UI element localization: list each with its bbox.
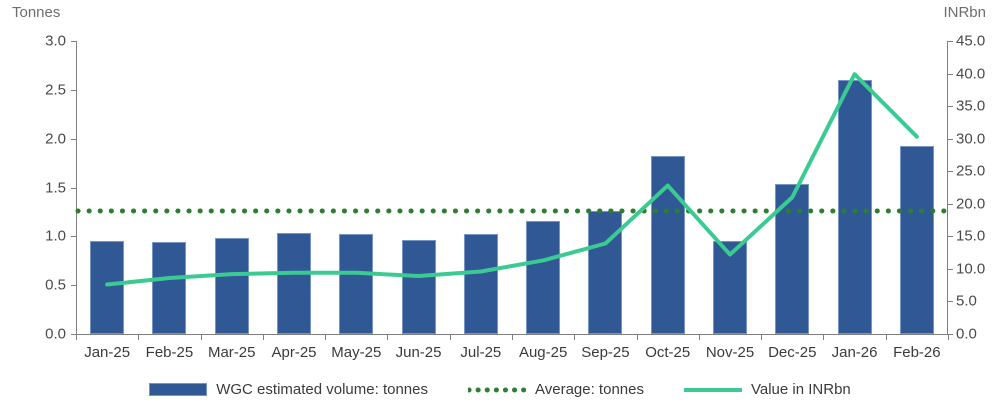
legend-item-wgc-estimated-volume[interactable]: WGC estimated volume: tonnes <box>149 381 428 398</box>
legend-item-value-in-inrbn[interactable]: Value in INRbn <box>684 381 851 398</box>
right-axis-tick-mark <box>948 334 953 335</box>
legend-label-wgc-estimated-volume: WGC estimated volume: tonnes <box>216 381 428 398</box>
left-axis-tick-2.5: 2.5 <box>45 81 66 98</box>
left-axis-tick-mark <box>71 334 76 335</box>
right-axis-tick-15.0: 15.0 <box>956 228 985 245</box>
bar-sep-25[interactable] <box>588 211 622 334</box>
plot-area <box>76 41 948 334</box>
right-axis-tick-mark <box>948 139 953 140</box>
legend-item-average-tonnes[interactable]: Average: tonnes <box>468 381 644 398</box>
right-axis-tick-mark <box>948 74 953 75</box>
left-axis-tick-1.5: 1.5 <box>45 179 66 196</box>
x-axis-tick-mark <box>138 334 139 340</box>
right-axis-tick-5.0: 5.0 <box>956 293 977 310</box>
right-axis-tick-0.0: 0.0 <box>956 326 977 343</box>
left-axis-tick-mark <box>71 139 76 140</box>
chart-container: Tonnes INRbn 0.00.51.01.52.02.53.0 0.05.… <box>0 0 1000 413</box>
x-axis-tick-mark <box>637 334 638 340</box>
bar-swatch-icon <box>149 383 207 396</box>
bar-nov-25[interactable] <box>713 241 747 334</box>
bar-may-25[interactable] <box>339 234 373 334</box>
bar-feb-26[interactable] <box>900 146 934 334</box>
right-axis-tick-25.0: 25.0 <box>956 163 985 180</box>
x-axis-label-jun-25: Jun-25 <box>396 344 442 361</box>
x-axis-tick-mark <box>387 334 388 340</box>
chart-legend: WGC estimated volume: tonnes Average: to… <box>0 381 1000 398</box>
x-axis-tick-mark <box>450 334 451 340</box>
left-axis-tick-mark <box>71 90 76 91</box>
legend-label-average-tonnes: Average: tonnes <box>535 381 644 398</box>
x-axis-tick-mark <box>76 334 77 340</box>
solid-line-swatch-icon <box>684 387 742 393</box>
bar-jun-25[interactable] <box>402 240 436 334</box>
left-axis-tick-mark <box>71 188 76 189</box>
bar-mar-25[interactable] <box>215 238 249 334</box>
bar-dec-25[interactable] <box>775 184 809 334</box>
bar-aug-25[interactable] <box>526 221 560 334</box>
x-axis-label-apr-25: Apr-25 <box>271 344 316 361</box>
left-axis-tick-0.0: 0.0 <box>45 326 66 343</box>
legend-label-value-in-inrbn: Value in INRbn <box>751 381 851 398</box>
bar-feb-25[interactable] <box>152 242 186 334</box>
x-axis-label-may-25: May-25 <box>331 344 381 361</box>
left-axis-tick-mark <box>71 41 76 42</box>
dotted-line-swatch-icon <box>468 387 526 393</box>
x-axis-label-mar-25: Mar-25 <box>208 344 256 361</box>
x-axis-tick-mark <box>699 334 700 340</box>
right-axis-tick-mark <box>948 204 953 205</box>
x-axis-tick-mark <box>574 334 575 340</box>
right-axis-tick-mark <box>948 269 953 270</box>
right-axis-tick-labels: 0.05.010.015.020.025.030.035.040.045.0 <box>956 0 1000 413</box>
x-axis-tick-mark <box>823 334 824 340</box>
x-axis-label-jul-25: Jul-25 <box>460 344 501 361</box>
x-axis-label-nov-25: Nov-25 <box>706 344 754 361</box>
right-axis-tick-45.0: 45.0 <box>956 33 985 50</box>
left-axis-tick-mark <box>71 236 76 237</box>
bar-jan-25[interactable] <box>90 241 124 334</box>
x-axis-label-jan-26: Jan-26 <box>832 344 878 361</box>
x-axis-label-feb-26: Feb-26 <box>893 344 941 361</box>
x-axis-label-oct-25: Oct-25 <box>645 344 690 361</box>
bar-jul-25[interactable] <box>464 234 498 334</box>
left-axis-tick-mark <box>71 285 76 286</box>
right-axis-tick-mark <box>948 236 953 237</box>
right-axis-tick-20.0: 20.0 <box>956 195 985 212</box>
right-axis-tick-35.0: 35.0 <box>956 98 985 115</box>
x-axis-label-aug-25: Aug-25 <box>519 344 567 361</box>
x-axis-tick-mark <box>761 334 762 340</box>
x-axis-tick-mark <box>512 334 513 340</box>
left-axis-tick-1.0: 1.0 <box>45 228 66 245</box>
x-axis-label-jan-25: Jan-25 <box>84 344 130 361</box>
bar-jan-26[interactable] <box>838 80 872 334</box>
x-axis-tick-mark <box>263 334 264 340</box>
x-axis-label-dec-25: Dec-25 <box>768 344 816 361</box>
right-axis-tick-30.0: 30.0 <box>956 130 985 147</box>
bar-oct-25[interactable] <box>651 156 685 334</box>
right-axis-tick-40.0: 40.0 <box>956 65 985 82</box>
bar-apr-25[interactable] <box>277 233 311 334</box>
left-axis-tick-2.0: 2.0 <box>45 130 66 147</box>
x-axis-label-feb-25: Feb-25 <box>146 344 194 361</box>
x-axis-tick-mark <box>201 334 202 340</box>
right-axis-tick-mark <box>948 41 953 42</box>
right-axis-tick-mark <box>948 106 953 107</box>
right-axis-tick-mark <box>948 301 953 302</box>
right-axis-tick-10.0: 10.0 <box>956 260 985 277</box>
left-axis-tick-3.0: 3.0 <box>45 33 66 50</box>
x-axis-tick-mark <box>886 334 887 340</box>
line-series-layer <box>76 41 948 334</box>
left-axis-tick-labels: 0.00.51.01.52.02.53.0 <box>18 0 66 413</box>
left-axis-tick-0.5: 0.5 <box>45 277 66 294</box>
x-axis-tick-mark <box>325 334 326 340</box>
x-axis-label-sep-25: Sep-25 <box>581 344 629 361</box>
right-axis-tick-mark <box>948 171 953 172</box>
